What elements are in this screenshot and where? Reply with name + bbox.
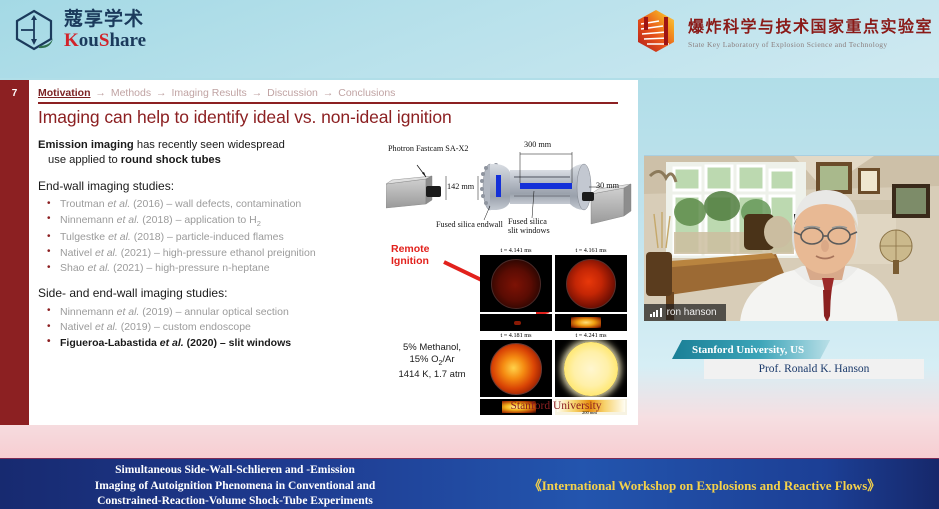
lead-bold-term-2: round shock tubes — [121, 154, 221, 166]
slide-content: Motivation → Methods → Imaging Results →… — [38, 80, 634, 425]
video-frame — [644, 156, 939, 321]
speaker-video-pane[interactable]: ron hanson — [644, 155, 939, 321]
breadcrumb-arrow-icon: → — [93, 87, 108, 99]
ref-etal: et al. — [117, 214, 140, 226]
endwall-frame-4 — [555, 340, 627, 397]
presentation-slide[interactable]: 7 Motivation → Methods → Imaging Results… — [0, 80, 638, 425]
dim-300-label: 300 mm — [524, 140, 551, 149]
camera-label: Photron Fastcam SA-X2 — [388, 144, 469, 153]
endwall-frame-1 — [480, 255, 552, 312]
speaker-info: Stanford University, US Prof. Ronald K. … — [644, 340, 939, 390]
ref-etal: et al. — [95, 321, 118, 333]
participant-name-badge: ron hanson — [644, 304, 726, 321]
slit-window-label-2: slit windows — [508, 226, 550, 235]
breadcrumb-arrow-icon: → — [321, 87, 336, 99]
dim-142-label: 142 mm — [447, 182, 474, 191]
ref-detail: (2016) – wall defects, contamination — [130, 198, 301, 210]
slide-number: 7 — [0, 88, 29, 99]
ref-detail: (2020) – slit windows — [184, 337, 291, 349]
frame-disc — [566, 259, 616, 309]
breadcrumb-item-motivation[interactable]: Motivation — [38, 87, 91, 99]
slide-title: Imaging can help to identify ideal vs. n… — [38, 107, 634, 128]
ref-etal: et al. — [107, 198, 130, 210]
koushare-wordmark: 蔻享学术 KouShare — [64, 10, 146, 50]
condition-line-2: 15% O2/Ar — [388, 354, 476, 369]
ref-detail: (2021) – high-pressure ethanol preigniti… — [118, 247, 316, 259]
title-divider — [38, 102, 618, 104]
ref-author: Shao — [60, 262, 85, 274]
explosion-lab-wordmark: 爆炸科学与技术国家重点实验室 State Key Laboratory of E… — [688, 13, 933, 49]
lab-english-name: State Key Laboratory of Explosion Scienc… — [688, 40, 933, 49]
explosion-lab-hexagon-logo-icon — [633, 8, 679, 54]
ref-author: Nativel — [60, 321, 92, 333]
talk-title-line-1: Simultaneous Side-Wall-Schlieren and -Em… — [0, 463, 470, 479]
ref-etal: et al. — [95, 247, 118, 259]
lead-text-2: use applied to — [48, 154, 121, 166]
talk-title-line-2: Imaging of Autoignition Phenomena in Con… — [0, 479, 470, 495]
signal-bars-icon — [650, 308, 662, 317]
koushare-chinese-name: 蔻享学术 — [64, 10, 146, 29]
ref-etal: et al. — [108, 231, 131, 243]
condition-line-1: 5% Methanol, — [388, 342, 476, 354]
frame-disc — [564, 342, 618, 396]
speaker-name: Prof. Ronald K. Hanson — [704, 359, 924, 379]
frame-timestamp: t = 4.161 ms — [554, 247, 628, 254]
ref-author: Ninnemann — [60, 214, 114, 226]
frame-timestamp: t = 4.141 ms — [479, 247, 553, 254]
koushare-hexagon-logo-icon — [12, 8, 56, 52]
breadcrumb-item-discussion[interactable]: Discussion — [267, 87, 318, 99]
lead-second-line: use applied to round shock tubes — [38, 153, 368, 168]
ref-author: Tulgestke — [60, 231, 105, 243]
event-name: 《International Workshop on Explosions an… — [470, 459, 939, 509]
breadcrumb-item-conclusions[interactable]: Conclusions — [338, 87, 395, 99]
annotation-line-1: Remote — [391, 244, 430, 256]
frame-disc — [491, 259, 541, 309]
frame-disc — [490, 343, 542, 395]
endwall-frame-3 — [480, 340, 552, 397]
shock-tube-schematic: Photron Fastcam SA-X2 142 mm 300 mm 30 m… — [386, 132, 636, 237]
talk-title-line-3: Constrained-Reaction-Volume Shock-Tube E… — [0, 494, 470, 509]
ref-author: Ninnemann — [60, 306, 114, 318]
breadcrumb-item-methods[interactable]: Methods — [111, 87, 151, 99]
ref-etal: et al. — [160, 337, 184, 349]
test-conditions-label: 5% Methanol, 15% O2/Ar 1414 K, 1.7 atm — [388, 342, 476, 381]
dim-30-label: 30 mm — [596, 181, 619, 190]
breadcrumb-arrow-icon: → — [154, 87, 169, 99]
ref-detail: (2019) – custom endoscope — [118, 321, 251, 333]
ref-detail: (2018) – particle-induced flames — [131, 231, 284, 243]
breadcrumb: Motivation → Methods → Imaging Results →… — [38, 87, 634, 99]
talk-title: Simultaneous Side-Wall-Schlieren and -Em… — [0, 463, 470, 509]
ref-author: Troutman — [60, 198, 105, 210]
ref-author: Figueroa-Labastida — [60, 337, 157, 349]
ref-author: Nativel — [60, 247, 92, 259]
explosion-lab-logo: 爆炸科学与技术国家重点实验室 State Key Laboratory of E… — [633, 8, 933, 54]
ref-detail: (2021) – high-pressure n-heptane — [110, 262, 269, 274]
ref-detail: (2019) – annular optical section — [139, 306, 288, 318]
lead-text: has recently seen widespread — [134, 139, 285, 151]
breadcrumb-item-imaging-results[interactable]: Imaging Results — [171, 87, 246, 99]
ref-etal: et al. — [87, 262, 110, 274]
lead-bold-term: Emission imaging — [38, 139, 134, 151]
ref-etal: et al. — [117, 306, 140, 318]
endwall-label: Fused silica endwall — [436, 220, 503, 229]
ref-subscript: 2 — [257, 219, 261, 228]
figure-credit: Stanford University — [472, 400, 638, 412]
page-footer: Simultaneous Side-Wall-Schlieren and -Em… — [0, 458, 939, 509]
condition-line-3: 1414 K, 1.7 atm — [388, 369, 476, 381]
lead-paragraph: Emission imaging has recently seen wides… — [38, 138, 368, 169]
endwall-frame-2 — [555, 255, 627, 312]
imaging-results-figure: Remote Ignition 5% Methanol, 15% O2/Ar 1… — [386, 238, 638, 418]
remote-ignition-annotation: Remote Ignition — [391, 244, 430, 268]
frame-timestamp: t = 4.181 ms — [479, 332, 553, 339]
slit-window-label-1: Fused silica — [508, 217, 547, 226]
annotation-line-2: Ignition — [391, 256, 430, 268]
slide-side-rail — [0, 80, 29, 425]
sidewall-strip-1 — [480, 314, 552, 331]
breadcrumb-arrow-icon: → — [250, 87, 265, 99]
koushare-logo: 蔻享学术 KouShare — [12, 8, 146, 52]
frame-timestamp: t = 4.241 ms — [554, 332, 628, 339]
sidewall-strip-2 — [555, 314, 627, 331]
lab-chinese-name: 爆炸科学与技术国家重点实验室 — [688, 13, 933, 37]
page-header: 蔻享学术 KouShare — [0, 0, 939, 78]
koushare-english-name: KouShare — [64, 31, 146, 50]
participant-name: ron hanson — [667, 307, 717, 318]
ref-detail: (2018) – application to H — [139, 214, 256, 226]
speaker-affiliation: Stanford University, US — [672, 340, 830, 359]
